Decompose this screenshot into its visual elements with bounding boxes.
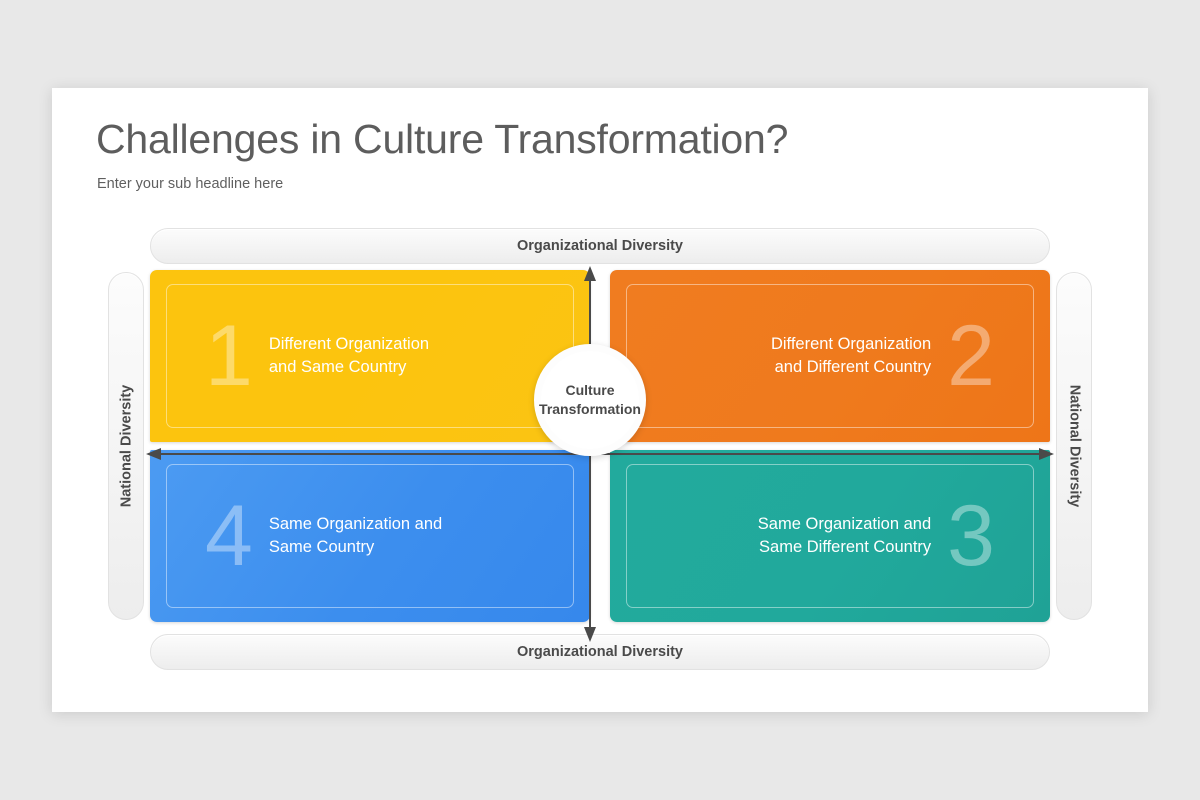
- center-circle-line1: Culture: [566, 382, 615, 398]
- quadrant-1-line2: and Same Country: [269, 358, 407, 376]
- axis-label-right[interactable]: National Diversity: [1056, 272, 1092, 620]
- quadrant-2-inner: Different Organization and Different Cou…: [626, 284, 1034, 428]
- quadrant-3-line2: Same Different Country: [759, 538, 931, 556]
- quadrant-4-inner: 4 Same Organization and Same Country: [166, 464, 574, 608]
- quadrant-2[interactable]: Different Organization and Different Cou…: [610, 270, 1050, 442]
- quadrant-4-number: 4: [205, 493, 253, 579]
- quadrant-2-line2: and Different Country: [775, 358, 932, 376]
- quadrant-1-inner: 1 Different Organization and Same Countr…: [166, 284, 574, 428]
- quadrant-1-line1: Different Organization: [269, 335, 429, 353]
- quadrant-3[interactable]: Same Organization and Same Different Cou…: [610, 450, 1050, 622]
- center-circle-label: Culture Transformation: [539, 381, 641, 419]
- axis-label-bottom[interactable]: Organizational Diversity: [150, 634, 1050, 670]
- page-title: Challenges in Culture Transformation?: [96, 116, 788, 163]
- quadrant-4[interactable]: 4 Same Organization and Same Country: [150, 450, 590, 622]
- axis-label-bottom-text: Organizational Diversity: [517, 644, 683, 660]
- page-subtitle: Enter your sub headline here: [97, 176, 283, 192]
- axis-label-right-text: National Diversity: [1066, 385, 1082, 508]
- quadrant-3-line1: Same Organization and: [758, 515, 931, 533]
- quadrant-1-label: Different Organization and Same Country: [269, 333, 429, 379]
- axis-label-left-text: National Diversity: [118, 385, 134, 508]
- quadrant-3-number: 3: [947, 493, 995, 579]
- quadrant-3-inner: Same Organization and Same Different Cou…: [626, 464, 1034, 608]
- slide-canvas: Challenges in Culture Transformation? En…: [52, 88, 1148, 712]
- quadrant-3-label: Same Organization and Same Different Cou…: [758, 513, 931, 559]
- axis-label-top-text: Organizational Diversity: [517, 238, 683, 254]
- quadrant-2-line1: Different Organization: [771, 335, 931, 353]
- quadrant-4-line2: Same Country: [269, 538, 374, 556]
- quadrant-2-number: 2: [947, 313, 995, 399]
- quadrant-1[interactable]: 1 Different Organization and Same Countr…: [150, 270, 590, 442]
- quadrant-1-number: 1: [205, 313, 253, 399]
- quadrant-4-line1: Same Organization and: [269, 515, 442, 533]
- quadrant-4-label: Same Organization and Same Country: [269, 513, 442, 559]
- axis-label-left[interactable]: National Diversity: [108, 272, 144, 620]
- center-circle-line2: Transformation: [539, 401, 641, 417]
- axis-label-top[interactable]: Organizational Diversity: [150, 228, 1050, 264]
- center-circle[interactable]: Culture Transformation: [534, 344, 646, 456]
- quadrant-2-label: Different Organization and Different Cou…: [771, 333, 931, 379]
